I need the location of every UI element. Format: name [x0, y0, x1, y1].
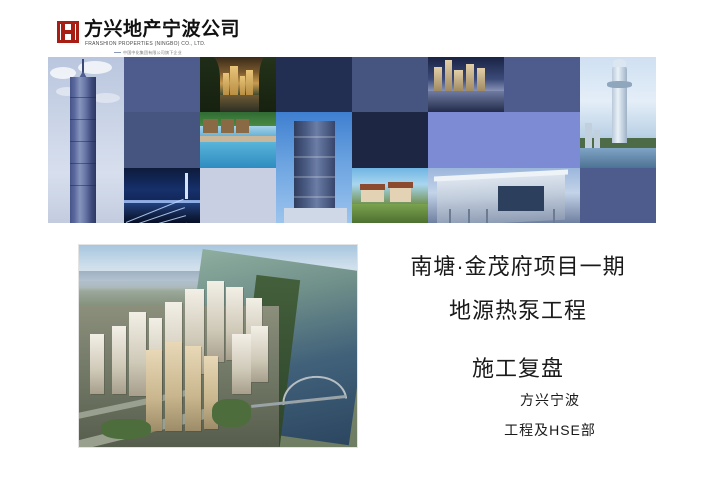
navy-tile-b: [276, 57, 352, 112]
navy-tile-e: [124, 112, 200, 167]
resort-pool-photo: [200, 112, 276, 167]
logo-parent-company: 中国中化集团有限公司旗下企业: [123, 50, 182, 56]
navy-tile-c: [352, 57, 428, 112]
byline-organization: 方兴宁波: [420, 388, 680, 412]
logo-company-name-en: FRANSHION PROPERTIES (NINGBO) CO., LTD.: [85, 41, 206, 47]
title-line-3: 施工复盘: [368, 352, 668, 386]
franshion-logo-mark-icon: [57, 21, 79, 43]
project-image-collage: [48, 57, 656, 223]
slide-title: 南塘·金茂府项目一期 地源热泵工程 施工复盘: [368, 250, 668, 386]
company-logo: 方兴地产宁波公司 FRANSHION PROPERTIES (NINGBO) C…: [57, 20, 287, 56]
villa-houses-photo: [352, 168, 428, 223]
title-line-2: 地源热泵工程: [368, 294, 668, 328]
jin-mao-tower-photo: [48, 57, 124, 223]
navy-tile-a: [124, 57, 200, 112]
title-line-1: 南塘·金茂府项目一期: [368, 250, 668, 284]
waterfront-towers-photo: [428, 57, 504, 112]
steel-tile-b: [580, 168, 656, 223]
logo-company-name-cn: 方兴地产宁波公司: [84, 19, 240, 41]
pale-tile-a: [200, 168, 276, 223]
round-tower-photo: [580, 57, 656, 168]
blue-highrise-photo: [276, 112, 352, 223]
navy-tile-f: [352, 112, 428, 167]
aerial-riverside-development-render: [78, 244, 358, 448]
slide-byline: 方兴宁波 工程及HSE部: [420, 388, 680, 442]
logo-subtitle-dash: [114, 52, 121, 53]
navy-tile-d: [504, 57, 580, 112]
presentation-slide: 方兴地产宁波公司 FRANSHION PROPERTIES (NINGBO) C…: [0, 0, 702, 496]
periwinkle-tile-a: [428, 112, 580, 167]
golden-city-night-photo: [200, 57, 276, 112]
glass-convention-photo: [428, 168, 580, 223]
night-bridge-photo: [124, 168, 200, 223]
byline-department: 工程及HSE部: [420, 418, 680, 442]
